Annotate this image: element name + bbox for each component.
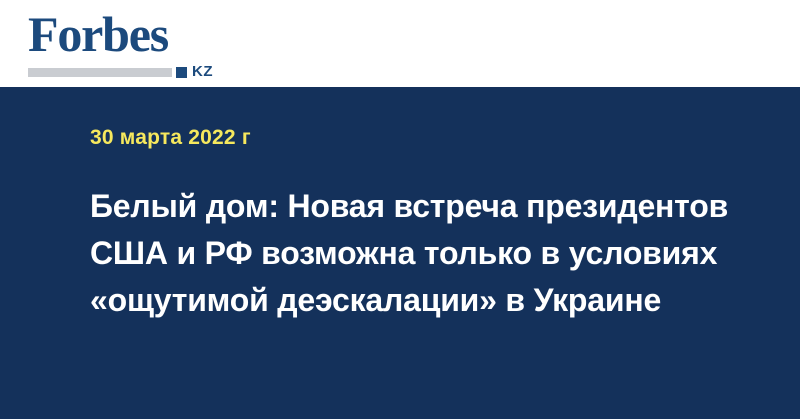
- article-headline: Белый дом: Новая встреча президентов США…: [90, 183, 730, 324]
- forbes-wordmark: Forbes: [28, 8, 168, 60]
- logo-kz-label: KZ: [192, 64, 213, 80]
- forbes-kz-logo[interactable]: Forbes KZ: [28, 8, 228, 80]
- hero-panel: 30 марта 2022 г Белый дом: Новая встреча…: [0, 87, 800, 419]
- logo-kz-row: KZ: [28, 64, 228, 80]
- article-share-card: Forbes KZ 30 марта 2022 г Белый дом: Нов…: [0, 0, 800, 419]
- logo-rule-divider: [28, 68, 172, 77]
- publication-date: 30 марта 2022 г: [90, 125, 251, 151]
- square-icon: [176, 67, 187, 78]
- site-header: Forbes KZ: [0, 0, 800, 87]
